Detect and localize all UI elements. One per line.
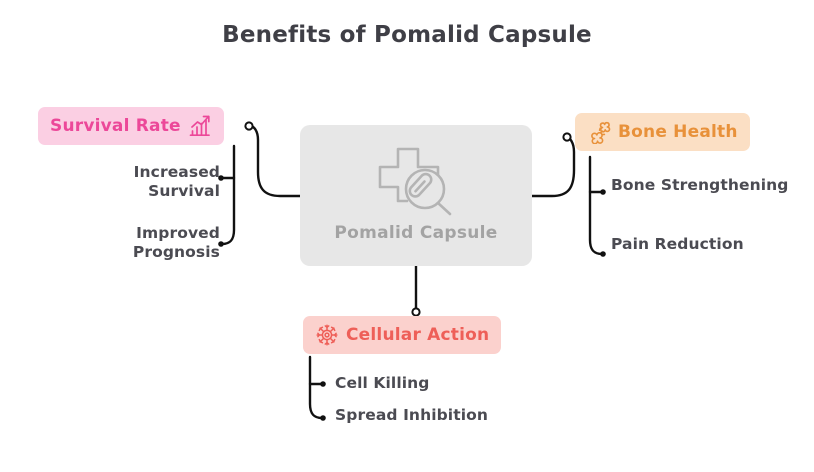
node-marker-survival [245,122,252,129]
connector-trunk-survival [250,126,300,196]
connector-spine-cellular [310,357,322,418]
endpoint-bone-1 [600,251,606,257]
chart-increasing-icon [188,114,212,138]
leaf-improved-prognosis: Improved Prognosis [60,224,220,262]
medical-cross-magnifier-capsule-icon [368,141,464,217]
leaf-pain-reduction: Pain Reduction [611,235,791,254]
connector-trunk-bone [532,137,574,196]
leaf-bone-strengthening: Bone Strengthening [611,176,791,195]
endpoint-bone-0 [600,189,606,195]
branch-label-survival-rate: Survival Rate [50,116,181,136]
node-marker-bone [563,133,570,140]
central-node-label: Pomalid Capsule [334,223,497,243]
branch-node-survival-rate[interactable]: Survival Rate [38,107,224,145]
leaf-increased-survival: Increased Survival [60,163,220,201]
branch-label-cellular-action: Cellular Action [346,325,489,345]
mindmap-canvas: Benefits of Pomalid Capsule [0,0,814,472]
branch-node-bone-health[interactable]: Bone Health [575,113,750,151]
branch-label-bone-health: Bone Health [618,122,738,142]
page-title: Benefits of Pomalid Capsule [0,22,814,48]
endpoint-cellular-0 [320,381,326,387]
central-node[interactable]: Pomalid Capsule [300,125,532,266]
leaf-cell-killing: Cell Killing [335,374,515,393]
branch-node-cellular-action[interactable]: Cellular Action [303,316,501,354]
connector-spine-bone [590,157,602,254]
connector-spine-survival [222,146,234,244]
endpoint-cellular-1 [320,415,326,421]
virus-cell-icon [315,323,339,347]
node-marker-cellular [412,308,419,315]
bone-icon [587,120,611,144]
leaf-spread-inhibition: Spread Inhibition [335,406,515,425]
